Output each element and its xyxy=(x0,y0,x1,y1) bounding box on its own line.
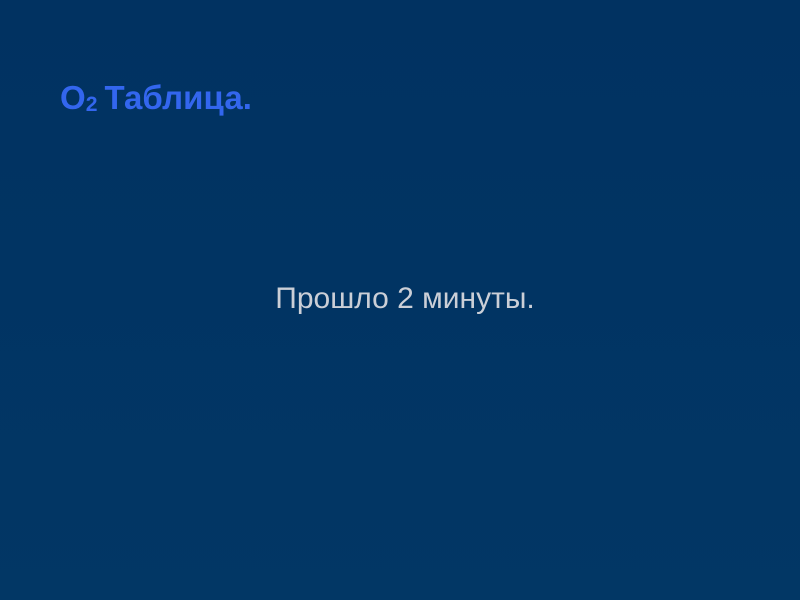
page-title: O2Таблица. xyxy=(60,78,750,123)
body-text-line: Прошло 2 минуты. xyxy=(60,280,750,318)
title-subscript: 2 xyxy=(86,93,98,116)
slide-canvas: O2Таблица. Прошло 2 минуты. xyxy=(0,0,800,600)
title-lead-text: O xyxy=(60,79,86,116)
slide-title-placeholder[interactable]: O2Таблица. xyxy=(60,78,750,126)
slide-body-placeholder[interactable]: Прошло 2 минуты. xyxy=(60,280,750,318)
title-rest-text: Таблица. xyxy=(105,79,253,116)
